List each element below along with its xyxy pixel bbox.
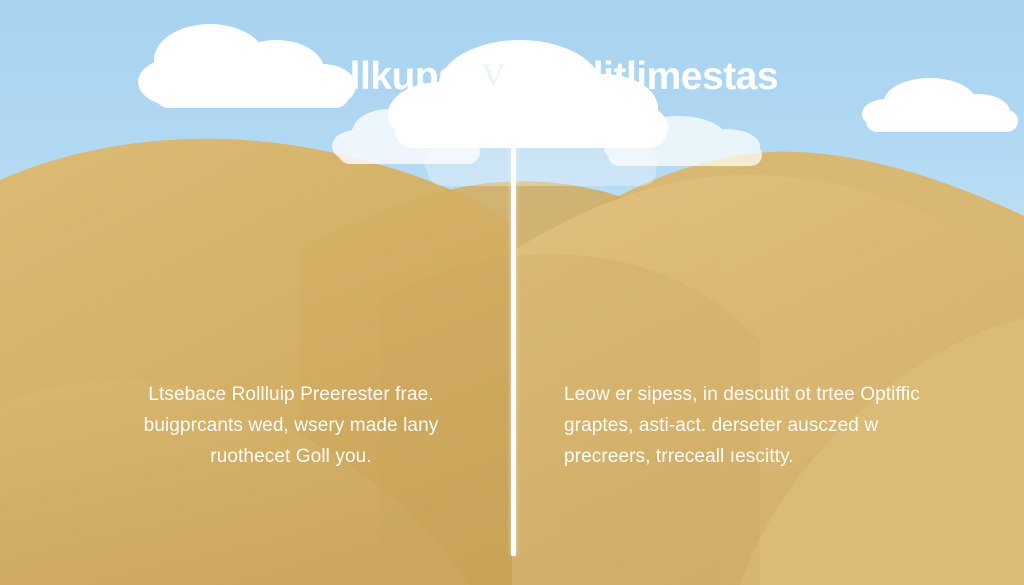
vertical-divider xyxy=(511,138,516,556)
content-columns: Ltsebace Rollluip Preerester frae. buigp… xyxy=(0,380,1024,472)
title-row: zk-Rollkups V Optlitlimestas xyxy=(0,48,1024,104)
right-column-body: Leow er sipess, in descutit ot trtee Opt… xyxy=(564,380,928,472)
left-column-body: Ltsebace Rollluip Preerester frae. buigp… xyxy=(118,380,464,472)
left-title: zk-Rollkups xyxy=(246,57,459,96)
title-separator: V xyxy=(481,60,505,93)
illustration-scene: zk-Rollkups V Optlitlimestas Ltsebace Ro… xyxy=(0,0,1024,585)
right-title: Optlitlimestas xyxy=(527,57,778,96)
right-column: Leow er sipess, in descutit ot trtee Opt… xyxy=(512,380,1024,472)
left-column: Ltsebace Rollluip Preerester frae. buigp… xyxy=(0,380,512,472)
